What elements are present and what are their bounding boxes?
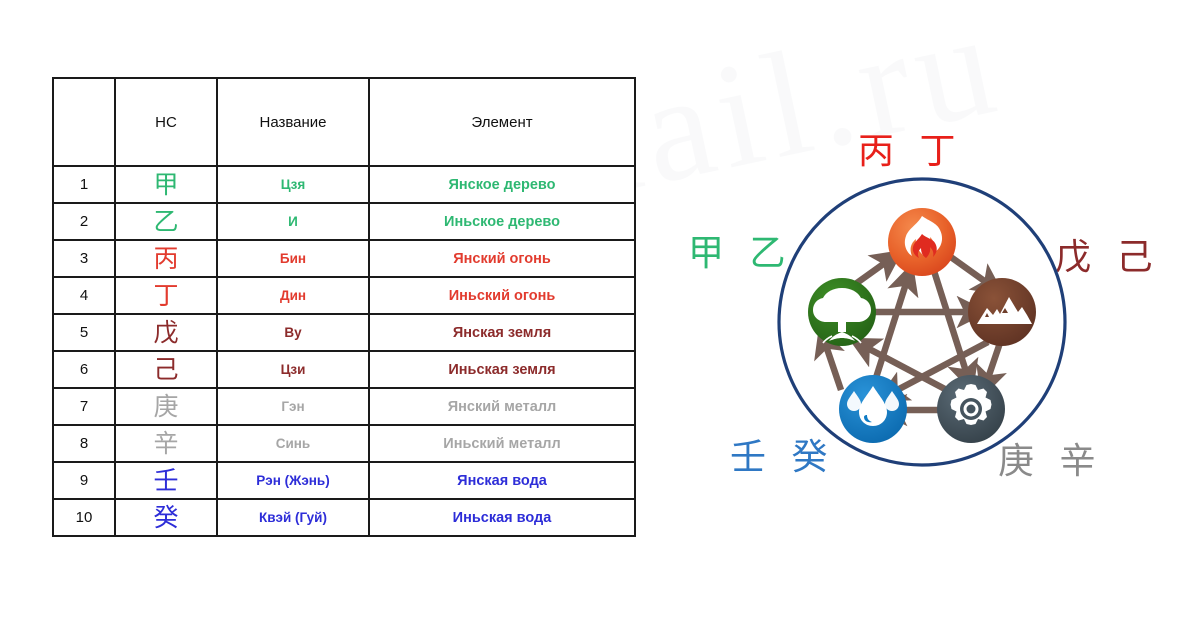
cell-index: 1 (53, 166, 115, 203)
cell-index: 10 (53, 499, 115, 536)
cell-index: 6 (53, 351, 115, 388)
wuxing-cycle-svg (772, 172, 1072, 472)
table-row: 2乙ИИньское дерево (53, 203, 635, 240)
cell-name: Гэн (217, 388, 369, 425)
cell-element: Иньская вода (369, 499, 635, 536)
table-row: 1甲ЦзяЯнское дерево (53, 166, 635, 203)
table-row: 7庚ГэнЯнский металл (53, 388, 635, 425)
cell-index: 3 (53, 240, 115, 277)
cell-name: Дин (217, 277, 369, 314)
cell-element: Иньское дерево (369, 203, 635, 240)
column-header-hs: НС (115, 78, 217, 166)
cell-element: Иньский металл (369, 425, 635, 462)
node-wood[interactable] (808, 278, 876, 346)
cell-index: 8 (53, 425, 115, 462)
cell-heavenly-stem: 庚 (115, 388, 217, 425)
cell-name: И (217, 203, 369, 240)
table-row: 4丁ДинИньский огонь (53, 277, 635, 314)
cell-element: Янское дерево (369, 166, 635, 203)
node-fire[interactable] (888, 208, 956, 276)
cell-name: Рэн (Жэнь) (217, 462, 369, 499)
node-water[interactable] (839, 375, 907, 443)
node-metal[interactable] (937, 375, 1005, 443)
table-row: 5戊ВуЯнская земля (53, 314, 635, 351)
cell-heavenly-stem: 己 (115, 351, 217, 388)
cell-index: 2 (53, 203, 115, 240)
cell-element: Иньский огонь (369, 277, 635, 314)
table-row: 3丙БинЯнский огонь (53, 240, 635, 277)
cell-name: Синь (217, 425, 369, 462)
diagram-label-fire: 丙 丁 (858, 122, 962, 174)
cell-heavenly-stem: 戊 (115, 314, 217, 351)
cell-heavenly-stem: 丙 (115, 240, 217, 277)
cell-heavenly-stem: 甲 (115, 166, 217, 203)
table-row: 10癸Квэй (Гуй)Иньская вода (53, 499, 635, 536)
cell-name: Цзи (217, 351, 369, 388)
cell-index: 9 (53, 462, 115, 499)
heavenly-stems-table-panel: НС Название Элемент 1甲ЦзяЯнское дерево2乙… (52, 77, 634, 537)
cell-element: Янская вода (369, 462, 635, 499)
cell-element: Янская земля (369, 314, 635, 351)
cell-heavenly-stem: 壬 (115, 462, 217, 499)
table-row: 9壬Рэн (Жэнь)Янская вода (53, 462, 635, 499)
cell-element: Янский металл (369, 388, 635, 425)
column-header-name: Название (217, 78, 369, 166)
column-header-index (53, 78, 115, 166)
cell-heavenly-stem: 丁 (115, 277, 217, 314)
column-header-element: Элемент (369, 78, 635, 166)
node-earth[interactable] (968, 278, 1036, 346)
cell-element: Янский огонь (369, 240, 635, 277)
table-row: 8辛СиньИньский металл (53, 425, 635, 462)
cell-index: 4 (53, 277, 115, 314)
cell-name: Квэй (Гуй) (217, 499, 369, 536)
heavenly-stems-table: НС Название Элемент 1甲ЦзяЯнское дерево2乙… (52, 77, 636, 537)
cell-index: 5 (53, 314, 115, 351)
table-header-row: НС Название Элемент (53, 78, 635, 166)
cell-name: Цзя (217, 166, 369, 203)
cell-index: 7 (53, 388, 115, 425)
cell-element: Иньская земля (369, 351, 635, 388)
cell-name: Бин (217, 240, 369, 277)
cell-heavenly-stem: 乙 (115, 203, 217, 240)
wuxing-diagram-panel: 丙 丁 甲 乙 戊 己 壬 癸 庚 辛 (660, 110, 1200, 530)
cell-heavenly-stem: 辛 (115, 425, 217, 462)
cell-name: Ву (217, 314, 369, 351)
cell-heavenly-stem: 癸 (115, 499, 217, 536)
table-row: 6己ЦзиИньская земля (53, 351, 635, 388)
